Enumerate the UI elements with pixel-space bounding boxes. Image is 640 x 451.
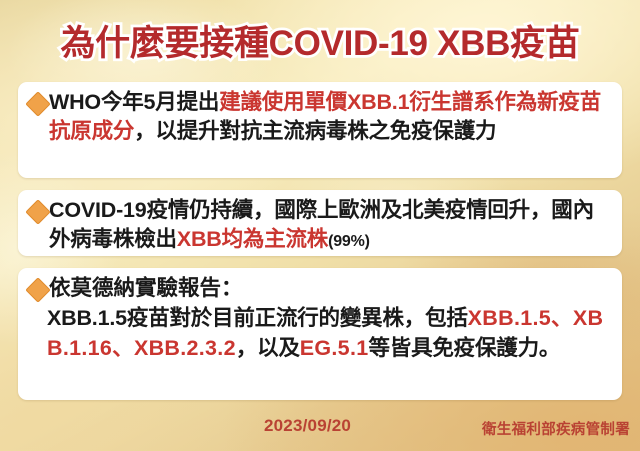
diamond-bullet-icon (25, 277, 50, 302)
content-panel-epidemic: COVID-19疫情仍持續，國際上歐洲及北美疫情回升，國內外病毒株檢出XBB均為… (18, 190, 622, 256)
diamond-bullet-icon (25, 199, 50, 224)
poster-footer: 2023/09/20 衛生福利部疾病管制署 (0, 416, 640, 446)
panel-inner: COVID-19疫情仍持續，國際上歐洲及北美疫情回升，國內外病毒株檢出XBB均為… (18, 190, 622, 262)
panel-inner: WHO今年5月提出建議使用單價XBB.1衍生譜系作為新疫苗抗原成分，以提升對抗主… (18, 82, 622, 152)
bullet-row: 依莫德納實驗報告： (29, 274, 612, 303)
text-segment-black: ，以及 (236, 336, 300, 360)
footer-agency-name: 衛生福利部疾病管制署 (482, 418, 630, 439)
text-segment-red: EG.5.1 (300, 336, 369, 360)
poster-canvas: 為什麼要接種COVID-19 XBB疫苗 WHO今年5月提出建議使用單價XBB.… (0, 0, 640, 451)
content-panel-moderna: 依莫德納實驗報告： XBB.1.5疫苗對於目前正流行的變異株，包括XBB.1.5… (18, 268, 622, 400)
panel-heading: 依莫德納實驗報告： (49, 274, 243, 303)
bullet-text: WHO今年5月提出建議使用單價XBB.1衍生譜系作為新疫苗抗原成分，以提升對抗主… (49, 88, 612, 146)
text-segment-black: XBB.1.5疫苗對於目前正流行的變異株，包括 (47, 306, 468, 330)
text-segment-red: XBB均為主流株 (177, 227, 328, 251)
text-segment-black: 等皆具免疫保護力。 (368, 336, 560, 360)
bullet-text: COVID-19疫情仍持續，國際上歐洲及北美疫情回升，國內外病毒株檢出XBB均為… (49, 196, 612, 256)
footer-date: 2023/09/20 (264, 416, 351, 436)
text-segment-black: WHO今年5月提出 (49, 90, 219, 114)
diamond-bullet-icon (25, 91, 50, 116)
text-segment-percentage: (99%) (328, 233, 370, 250)
bullet-row: WHO今年5月提出建議使用單價XBB.1衍生譜系作為新疫苗抗原成分，以提升對抗主… (29, 88, 612, 146)
poster-title-container: 為什麼要接種COVID-19 XBB疫苗 (0, 11, 640, 69)
panel-inner: 依莫德納實驗報告： XBB.1.5疫苗對於目前正流行的變異株，包括XBB.1.5… (18, 268, 622, 369)
text-segment-black: ，以提升對抗主流病毒株之免疫保護力 (134, 119, 496, 143)
content-panel-who: WHO今年5月提出建議使用單價XBB.1衍生譜系作為新疫苗抗原成分，以提升對抗主… (18, 82, 622, 178)
panel-body-text: XBB.1.5疫苗對於目前正流行的變異株，包括XBB.1.5、XBB.1.16、… (47, 303, 612, 363)
bullet-row: COVID-19疫情仍持續，國際上歐洲及北美疫情回升，國內外病毒株檢出XBB均為… (29, 196, 612, 256)
page-title: 為什麼要接種COVID-19 XBB疫苗 (60, 15, 579, 66)
